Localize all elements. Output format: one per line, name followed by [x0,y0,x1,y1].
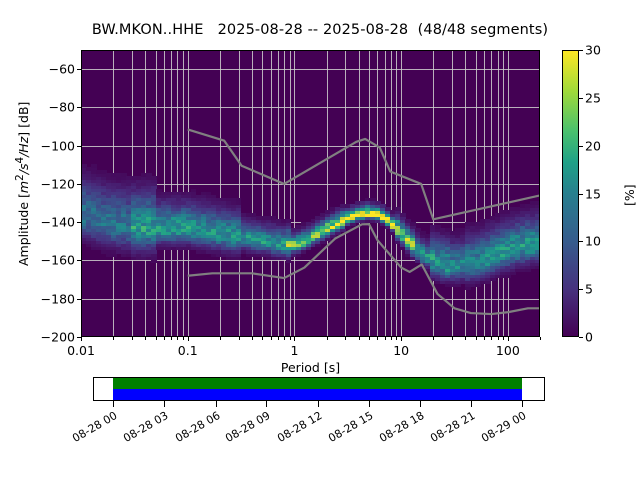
timeline-tick-label: 08-28 12 [269,409,324,448]
timeline-tick [164,401,165,407]
timeline-tick [522,401,523,407]
timeline-tick-label: 08-28 06 [167,409,222,448]
colorbar-tick [579,337,583,338]
timeline-tick-label: 08-28 00 [64,409,119,448]
x-tick [540,337,541,340]
data-coverage-timeline[interactable] [93,377,545,401]
x-tick [465,337,466,340]
colorbar-tick-label: 0 [585,330,593,345]
x-tick [452,337,453,340]
y-tick-label: −120 [33,176,75,191]
y-tick [77,146,81,147]
x-tick-label: 100 [496,343,520,358]
y-tick-label: −180 [33,291,75,306]
x-tick [385,337,386,340]
x-tick [145,337,146,340]
x-tick [132,337,133,340]
y-tick [77,184,81,185]
x-tick [164,337,165,340]
x-tick [171,337,172,340]
x-tick [156,337,157,340]
colorbar [562,50,579,337]
timeline-tick-label: 08-28 09 [218,409,273,448]
x-axis-title: Period [s] [0,360,621,375]
x-tick [396,337,397,340]
x-tick [401,337,402,341]
x-tick [503,337,504,340]
timeline-tick [318,401,319,407]
y-axis-title: Amplitude [m2/s4/Hz] [dB] [14,101,31,265]
x-tick [183,337,184,340]
timeline-tick-label: 08-28 21 [422,409,477,448]
x-tick [377,337,378,340]
x-tick [369,337,370,340]
x-tick [188,337,189,341]
x-tick [113,337,114,340]
x-tick [433,337,434,340]
ppsd-figure: BW.MKON..HHE 2025-08-28 -- 2025-08-28 (4… [0,0,640,480]
x-tick [476,337,477,340]
timeline-tick-label: 08-29 00 [474,409,529,448]
x-tick [278,337,279,340]
y-tick-label: −160 [33,253,75,268]
colorbar-tick-label: 10 [585,234,601,249]
y-tick-label: −140 [33,215,75,230]
y-tick-label: −200 [33,330,75,345]
ppsd-plot-area [81,50,540,337]
y-tick-label: −100 [33,138,75,153]
y-tick [77,260,81,261]
timeline-tick-label: 08-28 18 [371,409,426,448]
y-tick-label: −60 [33,62,75,77]
colorbar-tick [579,98,583,99]
timeline-tick [113,401,114,407]
y-tick [77,299,81,300]
x-tick [290,337,291,340]
x-tick [491,337,492,340]
y-tick [77,222,81,223]
psd-segments-bar [113,389,522,400]
x-tick [359,337,360,340]
y-tick [77,337,81,338]
figure-title: BW.MKON..HHE 2025-08-28 -- 2025-08-28 (4… [0,22,640,38]
colorbar-tick-label: 20 [585,138,601,153]
timeline-tick-label: 08-28 15 [320,409,375,448]
noise-model-nhnm [188,129,540,219]
colorbar-tick-label: 30 [585,43,601,58]
x-tick [498,337,499,340]
data-coverage-bar [113,378,522,389]
y-tick [77,69,81,70]
colorbar-tick-label: 15 [585,186,601,201]
timeline-tick [420,401,421,407]
timeline-tick-label: 08-28 03 [116,409,171,448]
x-tick [484,337,485,340]
x-tick [239,337,240,340]
x-tick [220,337,221,340]
colorbar-tick [579,194,583,195]
x-tick [327,337,328,340]
timeline-tick [266,401,267,407]
x-tick-label: 10 [393,343,409,358]
x-tick [81,337,82,341]
x-tick [284,337,285,340]
timeline-tick [369,401,370,407]
noise-model-curves [81,50,540,337]
x-tick [391,337,392,340]
timeline-tick [216,401,217,407]
x-tick [252,337,253,340]
x-tick [508,337,509,341]
x-tick-label: 0.01 [67,343,95,358]
colorbar-tick [579,289,583,290]
colorbar-tick [579,146,583,147]
x-tick-label: 1 [290,343,298,358]
x-tick [294,337,295,341]
colorbar-tick [579,241,583,242]
x-tick [262,337,263,340]
timeline-tick [471,401,472,407]
x-tick [177,337,178,340]
noise-model-nlnm [188,224,540,314]
colorbar-tick-label: 25 [585,90,601,105]
x-tick [345,337,346,340]
y-tick [77,107,81,108]
x-tick [271,337,272,340]
y-tick-label: −80 [33,100,75,115]
colorbar-label: [%] [622,184,637,206]
x-tick-label: 0.1 [178,343,198,358]
colorbar-tick-label: 5 [585,282,593,297]
colorbar-tick [579,50,583,51]
